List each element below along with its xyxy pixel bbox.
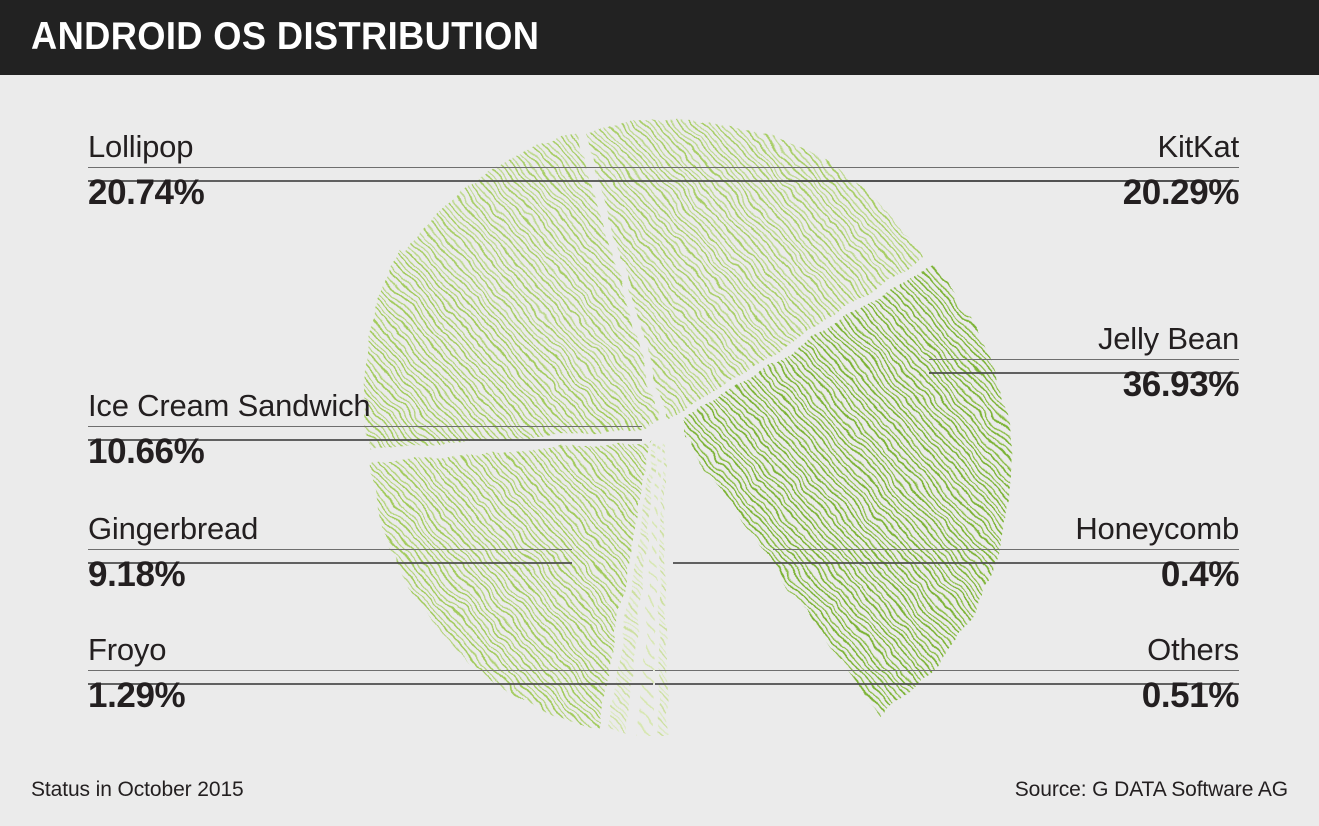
- footer-source: Source: G DATA Software AG: [1015, 778, 1288, 802]
- page-title: ANDROID OS DISTRIBUTION: [31, 15, 539, 59]
- callout-jelly-bean-label: Jelly Bean: [929, 321, 1239, 357]
- callout-others: Others 0.51%: [655, 632, 1239, 719]
- callout-gingerbread: Gingerbread 9.18%: [88, 511, 572, 598]
- callout-froyo-label: Froyo: [88, 632, 653, 668]
- callout-kitkat-value: 20.29%: [789, 168, 1239, 216]
- callout-jelly-bean: Jelly Bean 36.93%: [929, 321, 1239, 408]
- header-bar: ANDROID OS DISTRIBUTION: [0, 0, 1319, 75]
- callout-kitkat: KitKat 20.29%: [789, 129, 1239, 216]
- callout-gingerbread-label: Gingerbread: [88, 511, 572, 547]
- callout-gingerbread-value: 9.18%: [88, 550, 572, 598]
- callout-honeycomb: Honeycomb 0.4%: [773, 511, 1239, 598]
- callout-ice-cream-sandwich: Ice Cream Sandwich 10.66%: [88, 388, 642, 475]
- callout-others-value: 0.51%: [655, 671, 1239, 719]
- callout-honeycomb-label: Honeycomb: [773, 511, 1239, 547]
- callout-froyo: Froyo 1.29%: [88, 632, 653, 719]
- callout-ice-cream-sandwich-value: 10.66%: [88, 427, 642, 475]
- footer-status: Status in October 2015: [31, 778, 244, 802]
- callout-others-label: Others: [655, 632, 1239, 668]
- infographic-root: ANDROID OS DISTRIBUTION: [0, 0, 1319, 826]
- callout-jelly-bean-value: 36.93%: [929, 360, 1239, 408]
- callout-kitkat-label: KitKat: [789, 129, 1239, 165]
- callout-honeycomb-value: 0.4%: [773, 550, 1239, 598]
- callout-ice-cream-sandwich-label: Ice Cream Sandwich: [88, 388, 642, 424]
- callout-froyo-value: 1.29%: [88, 671, 653, 719]
